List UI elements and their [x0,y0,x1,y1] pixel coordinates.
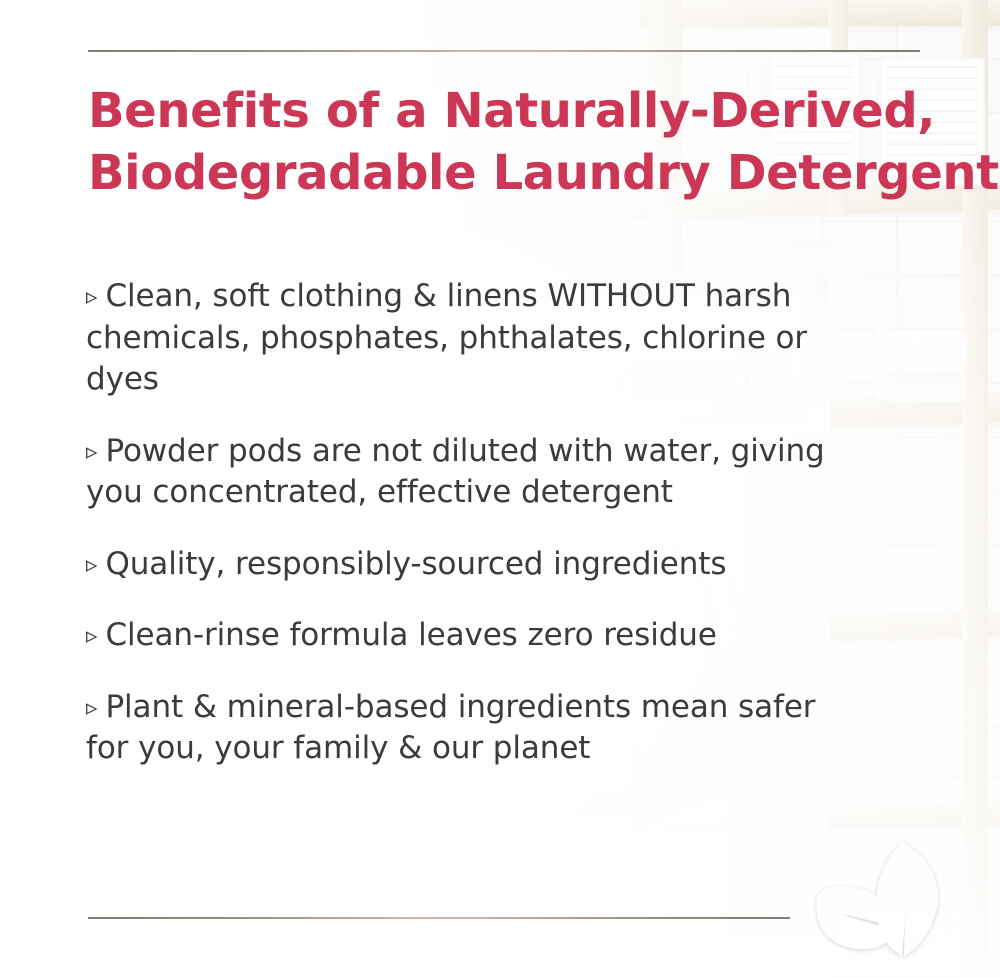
list-item-text: Powder pods are not diluted with water, … [86,433,825,511]
page-title-line-2: Biodegradable Laundry Detergent [88,142,938,204]
triangle-bullet-icon: ▹ [86,623,97,649]
triangle-bullet-icon: ▹ [86,695,97,721]
triangle-bullet-icon: ▹ [86,284,97,310]
benefits-poster: Benefits of a Naturally-Derived, Biodegr… [0,0,1000,978]
triangle-bullet-icon: ▹ [86,439,97,465]
divider-top [88,50,920,52]
page-title: Benefits of a Naturally-Derived, Biodegr… [88,80,938,205]
page-title-line-1: Benefits of a Naturally-Derived, [88,80,938,142]
two-leaf-logo-icon [812,838,960,962]
list-item: ▹Plant & mineral-based ingredients mean … [86,687,826,770]
divider-bottom [88,917,790,919]
list-item: ▹Clean, soft clothing & linens WITHOUT h… [86,276,826,401]
list-item-text: Clean-rinse formula leaves zero residue [105,617,716,653]
list-item-text: Quality, responsibly-sourced ingredients [105,546,726,582]
list-item: ▹Powder pods are not diluted with water,… [86,431,826,514]
triangle-bullet-icon: ▹ [86,552,97,578]
benefits-list: ▹Clean, soft clothing & linens WITHOUT h… [86,276,826,800]
poster-content: Benefits of a Naturally-Derived, Biodegr… [0,0,1000,978]
list-item: ▹Clean-rinse formula leaves zero residue [86,615,826,657]
list-item-text: Clean, soft clothing & linens WITHOUT ha… [86,278,807,397]
list-item: ▹Quality, responsibly-sourced ingredient… [86,544,826,586]
list-item-text: Plant & mineral-based ingredients mean s… [86,689,815,767]
